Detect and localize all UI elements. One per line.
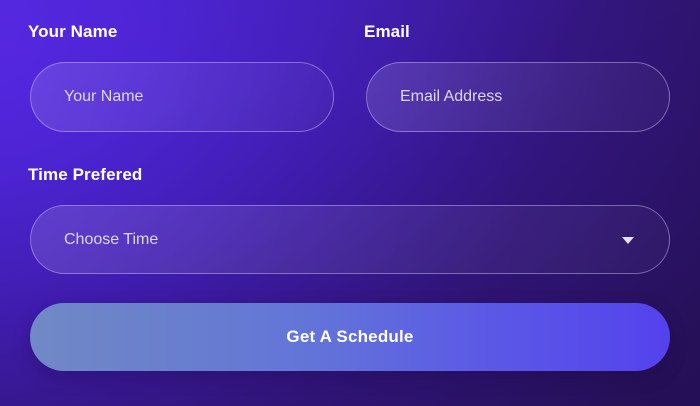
your-name-label: Your Name: [28, 22, 117, 42]
time-prefered-label: Time Prefered: [28, 165, 142, 185]
email-label: Email: [364, 22, 410, 42]
schedule-form: Your Name Your Name Email Email Address …: [0, 0, 700, 406]
time-prefered-placeholder: Choose Time: [31, 230, 158, 250]
schedule-form-screen: Your Name Your Name Email Email Address …: [0, 0, 700, 406]
your-name-placeholder: Your Name: [31, 87, 143, 107]
email-input[interactable]: Email Address: [366, 62, 670, 132]
time-prefered-select[interactable]: Choose Time: [30, 205, 670, 274]
email-placeholder: Email Address: [367, 87, 502, 107]
get-a-schedule-button-label: Get A Schedule: [286, 327, 413, 347]
get-a-schedule-button[interactable]: Get A Schedule: [30, 303, 670, 371]
your-name-input[interactable]: Your Name: [30, 62, 334, 132]
chevron-down-icon: [622, 237, 634, 244]
